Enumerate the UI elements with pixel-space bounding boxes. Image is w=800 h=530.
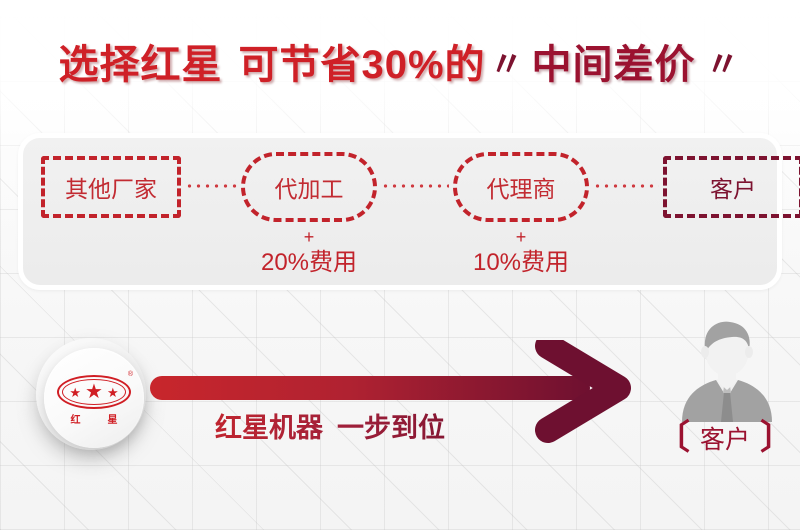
- quote-close-mark: 〃: [706, 37, 738, 86]
- slogan-left: 红星机器: [215, 413, 323, 443]
- logo-faceplate: ★ ★ ★ ® 红 星: [44, 348, 144, 448]
- logo-subtext-left: 红: [71, 411, 81, 426]
- headline-part1: 选择红星: [58, 32, 222, 90]
- flow-diagram: 其他厂家 代加工 代理商 客户 + 20%费用 + 10%费用: [23, 138, 777, 285]
- flow-node-oem: 代加工: [241, 152, 377, 222]
- customer-silhouette: [668, 320, 786, 422]
- flow-node-label: 其他厂家: [65, 170, 157, 204]
- slogan-text: 红星机器一步到位: [180, 406, 480, 445]
- star-icon-right: ★: [107, 386, 119, 399]
- quote-open-mark: 〃: [490, 37, 522, 86]
- headline-emphasis: 中间差价: [532, 32, 696, 90]
- fee-amount: 10%费用: [421, 250, 621, 275]
- page-title: 选择红星 可节省30%的 〃 中间差价 〃: [0, 28, 800, 94]
- flow-node-label: 客户: [710, 170, 756, 204]
- logo-subtext: 红 星: [57, 411, 131, 426]
- fee-amount: 20%费用: [209, 250, 409, 275]
- headline-part2: 可节省30%的: [238, 32, 485, 90]
- flow-node-other-factory: 其他厂家: [41, 156, 181, 218]
- flow-connector-3: [593, 184, 659, 188]
- fee-markup-agent: + 10%费用: [421, 228, 621, 275]
- registered-trademark-icon: ®: [128, 371, 133, 378]
- plus-sign: +: [209, 228, 409, 247]
- poster-canvas: 选择红星 可节省30%的 〃 中间差价 〃 其他厂家 代加工 代理商 客户: [0, 0, 800, 530]
- fee-markup-oem: + 20%费用: [209, 228, 409, 275]
- flow-node-label: 代加工: [275, 170, 344, 204]
- slogan-right: 一步到位: [337, 413, 445, 443]
- star-icon-left: ★: [69, 386, 81, 399]
- person-icon: [668, 320, 786, 422]
- bracket-right-icon: 〕: [760, 421, 794, 455]
- middleman-flow-panel: 其他厂家 代加工 代理商 客户 + 20%费用 + 10%费用: [18, 133, 782, 290]
- bracket-left-icon: 〔: [656, 421, 690, 455]
- brand-logo-badge: ★ ★ ★ ® 红 星: [30, 336, 152, 458]
- logo-subtext-right: 星: [108, 411, 118, 426]
- flow-connector-2: [381, 184, 449, 188]
- customer-caption: 〔 客户 〕: [650, 418, 800, 458]
- flow-node-label: 代理商: [487, 170, 556, 204]
- plus-sign: +: [421, 228, 621, 247]
- customer-label-text: 客户: [700, 420, 750, 456]
- hongxing-logo-icon: ★ ★ ★ ® 红 星: [57, 371, 131, 425]
- flow-node-agent: 代理商: [453, 152, 589, 222]
- flow-connector-1: [185, 184, 237, 188]
- star-icon-center: ★: [85, 382, 103, 402]
- flow-node-customer: 客户: [663, 156, 800, 218]
- logo-stars-group: ★ ★ ★: [57, 380, 131, 404]
